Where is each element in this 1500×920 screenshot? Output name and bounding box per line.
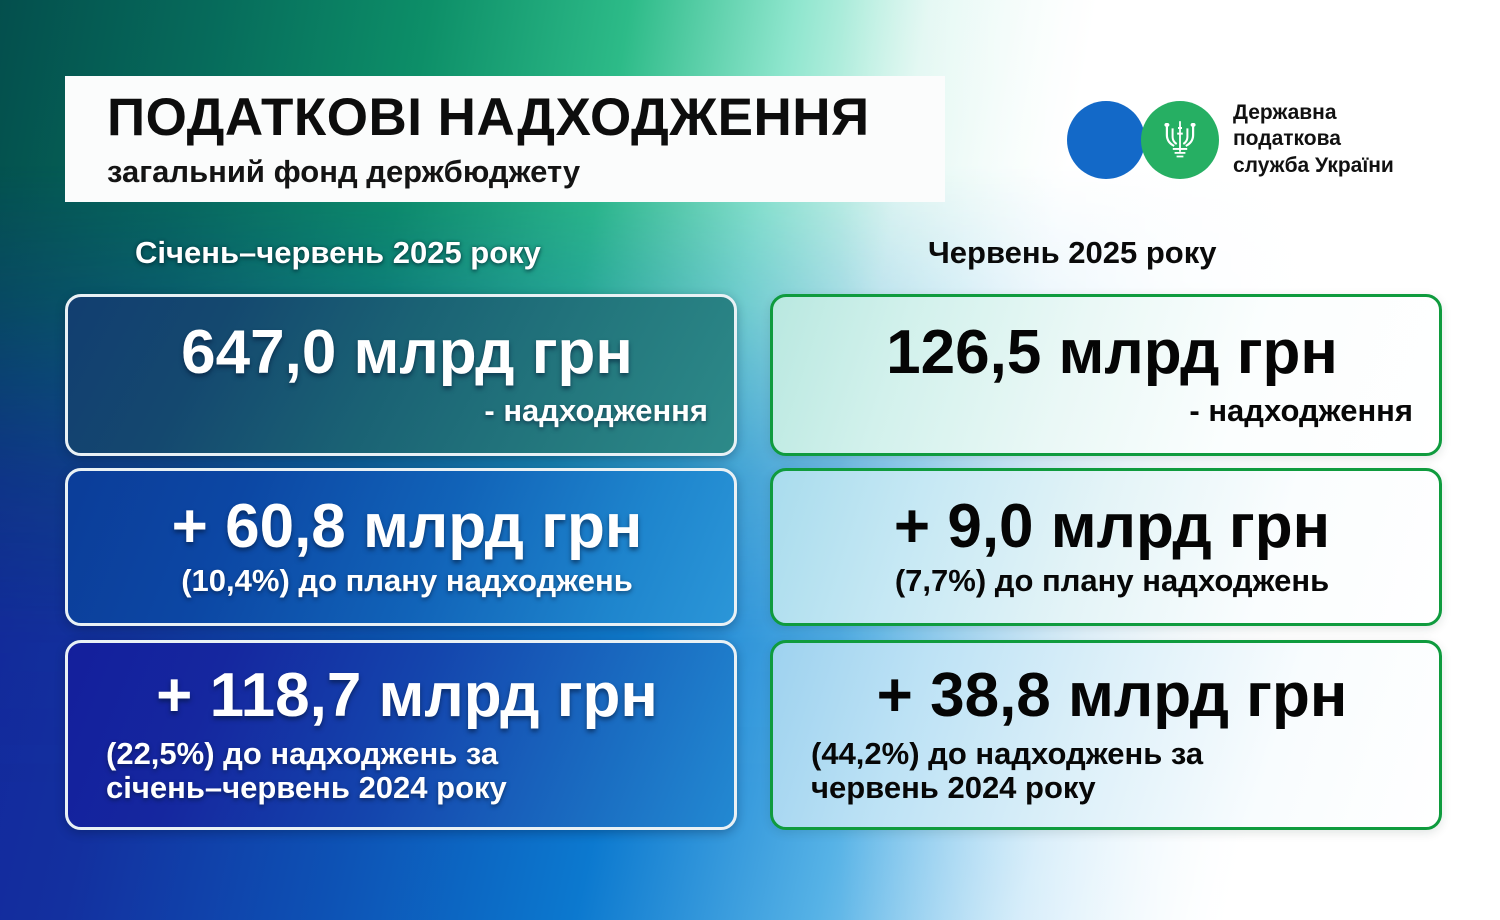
logo-text: Державна податкова служба України <box>1233 100 1394 179</box>
stat-value: + 60,8 млрд грн <box>106 496 708 558</box>
tryzub-icon <box>1163 119 1197 161</box>
right-column-heading: Червень 2025 року <box>928 237 1216 268</box>
organization-logo: Державна податкова служба України <box>1067 100 1394 179</box>
stat-caption-line1: (22,5%) до надходжень за <box>106 737 708 771</box>
stat-value: 647,0 млрд грн <box>106 322 708 384</box>
title-card: ПОДАТКОВІ НАДХОДЖЕННЯ загальний фонд дер… <box>65 76 945 202</box>
stat-card-left-revenue: 647,0 млрд грн - надходження <box>65 294 737 456</box>
stat-value: + 9,0 млрд грн <box>811 496 1413 558</box>
stat-card-right-vs-plan: + 9,0 млрд грн (7,7%) до плану надходжен… <box>770 468 1442 626</box>
stat-caption-line1: (44,2%) до надходжень за <box>811 737 1413 771</box>
stat-card-left-vs-last-year: + 118,7 млрд грн (22,5%) до надходжень з… <box>65 640 737 830</box>
logo-marks <box>1067 101 1219 179</box>
stat-caption: (10,4%) до плану надходжень <box>106 564 708 598</box>
page-title: ПОДАТКОВІ НАДХОДЖЕННЯ <box>107 91 945 144</box>
stat-caption: - надходження <box>106 394 708 428</box>
stat-value: + 118,7 млрд грн <box>106 665 708 727</box>
logo-text-line2: податкова <box>1233 126 1394 152</box>
stat-card-right-vs-last-year: + 38,8 млрд грн (44,2%) до надходжень за… <box>770 640 1442 830</box>
logo-text-line3: служба України <box>1233 153 1394 179</box>
stat-caption-line2: січень–червень 2024 року <box>106 771 708 805</box>
logo-text-line1: Державна <box>1233 100 1394 126</box>
stat-caption: (7,7%) до плану надходжень <box>811 564 1413 598</box>
page-subtitle: загальний фонд держбюджету <box>107 156 945 187</box>
stat-caption: - надходження <box>811 394 1413 428</box>
stat-card-right-revenue: 126,5 млрд грн - надходження <box>770 294 1442 456</box>
blue-circle-icon <box>1067 101 1145 179</box>
left-column-heading: Січень–червень 2025 року <box>135 237 541 268</box>
green-circle-icon <box>1141 101 1219 179</box>
stat-card-left-vs-plan: + 60,8 млрд грн (10,4%) до плану надходж… <box>65 468 737 626</box>
stat-value: + 38,8 млрд грн <box>811 665 1413 727</box>
stat-caption-line2: червень 2024 року <box>811 771 1413 805</box>
stat-value: 126,5 млрд грн <box>811 322 1413 384</box>
